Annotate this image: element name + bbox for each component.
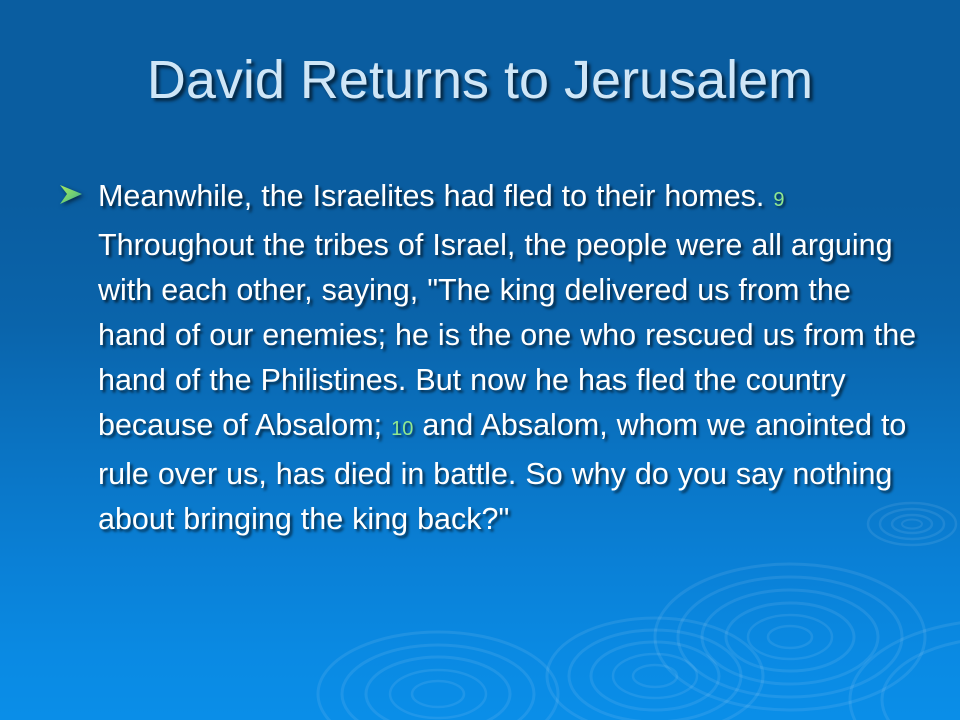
ripple-bottom-left — [318, 632, 558, 720]
ripple-right-edge — [850, 620, 960, 720]
verse-number: 10 — [391, 418, 413, 440]
ripple-large-center — [655, 564, 925, 710]
ripple-mid-bottom — [547, 618, 763, 720]
verse-number: 9 — [773, 189, 784, 211]
arrowhead-bullet-icon — [58, 174, 98, 207]
slide-title-container: David Returns to Jerusalem — [0, 52, 960, 109]
slide-body: Meanwhile, the Israelites had fled to th… — [58, 174, 926, 542]
bullet-list-item: Meanwhile, the Israelites had fled to th… — [58, 174, 926, 542]
presentation-slide: David Returns to Jerusalem Meanwhile, th… — [0, 0, 960, 720]
scripture-paragraph: Meanwhile, the Israelites had fled to th… — [98, 174, 926, 542]
page-title: David Returns to Jerusalem — [147, 52, 813, 109]
